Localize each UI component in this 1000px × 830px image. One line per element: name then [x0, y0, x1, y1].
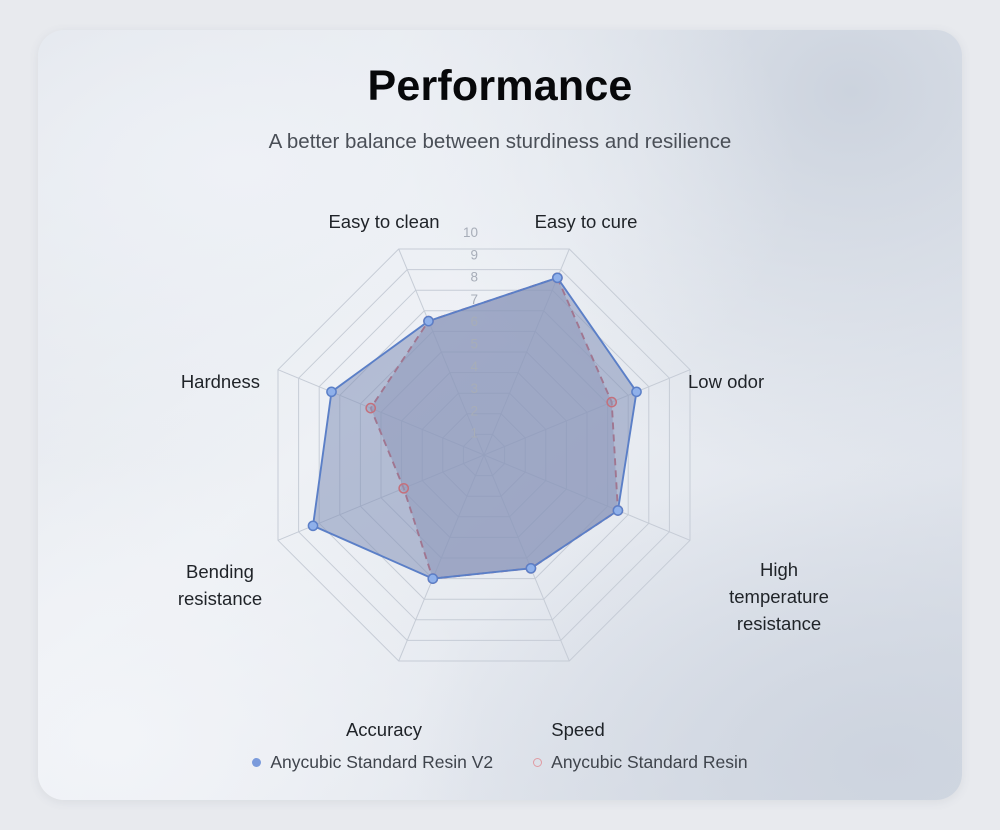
axis-label-speed: Speed	[488, 716, 668, 743]
radar-data-point[interactable]	[424, 317, 433, 326]
radar-data-point[interactable]	[613, 506, 622, 515]
legend-marker-filled-dot-icon	[252, 758, 261, 767]
radar-chart-svg: 12345678910	[38, 30, 962, 800]
axis-label-bending-resistance: Bending resistance	[130, 558, 310, 612]
radar-tick-label: 3	[470, 381, 478, 396]
radar-tick-label: 1	[470, 426, 478, 441]
radar-tick-label: 4	[470, 359, 478, 374]
axis-label-accuracy: Accuracy	[294, 716, 474, 743]
radar-tick-label: 6	[470, 314, 478, 329]
radar-tick-label: 9	[470, 247, 478, 262]
radar-data-point[interactable]	[327, 387, 336, 396]
radar-data-point[interactable]	[366, 404, 375, 413]
radar-data-point[interactable]	[526, 564, 535, 573]
chart-legend: Anycubic Standard Resin V2 Anycubic Stan…	[38, 752, 962, 773]
radar-tick-label: 7	[470, 292, 478, 307]
radar-tick-label: 2	[470, 403, 478, 418]
radar-data-point[interactable]	[399, 484, 408, 493]
legend-label-standard: Anycubic Standard Resin	[551, 752, 748, 773]
radar-data-point[interactable]	[632, 387, 641, 396]
radar-data-point[interactable]	[607, 398, 616, 407]
radar-data-point[interactable]	[308, 521, 317, 530]
legend-label-v2: Anycubic Standard Resin V2	[270, 752, 493, 773]
axis-label-hardness: Hardness	[80, 368, 260, 395]
radar-tick-label: 5	[470, 337, 478, 352]
radar-data-point[interactable]	[553, 273, 562, 282]
axis-label-high-temperature-resistance: High temperature resistance	[684, 556, 874, 637]
radar-data-point[interactable]	[428, 574, 437, 583]
performance-card: Performance A better balance between stu…	[38, 30, 962, 800]
radar-chart: 12345678910 Easy to cure Low odor High t…	[38, 30, 962, 800]
legend-marker-hollow-dot-icon	[533, 758, 542, 767]
axis-label-low-odor: Low odor	[688, 368, 868, 395]
legend-item-standard[interactable]: Anycubic Standard Resin	[533, 752, 748, 773]
axis-label-easy-to-cure: Easy to cure	[496, 208, 676, 235]
legend-item-v2[interactable]: Anycubic Standard Resin V2	[252, 752, 493, 773]
radar-tick-label: 8	[470, 270, 478, 285]
axis-label-easy-to-clean: Easy to clean	[294, 208, 474, 235]
